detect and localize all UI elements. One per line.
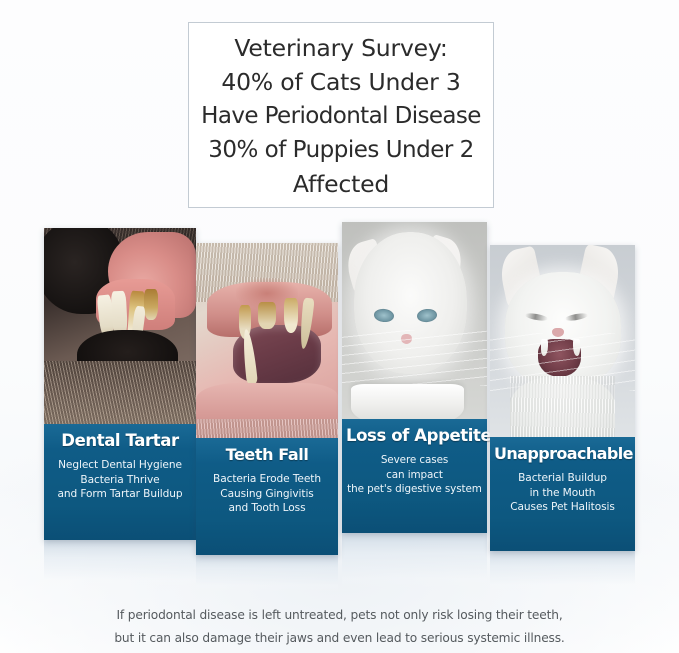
card-desc-line: Causing Gingivitis	[200, 487, 334, 502]
card-desc-loss-of-appetite: Severe cases can impact the pet's digest…	[346, 453, 483, 497]
card-deck: Dental Tartar Neglect Dental Hygiene Bac…	[0, 0, 679, 653]
card-desc-line: and Tooth Loss	[200, 501, 334, 516]
card-banner-loss-of-appetite: Loss of Appetite Severe cases can impact…	[342, 419, 487, 533]
card-banner-dental-tartar: Dental Tartar Neglect Dental Hygiene Bac…	[44, 424, 196, 540]
card-loss-of-appetite[interactable]: Loss of Appetite Severe cases can impact…	[342, 222, 487, 533]
footer-note: If periodontal disease is left untreated…	[0, 604, 679, 650]
card-photo-teeth-fall	[196, 243, 338, 438]
card-desc-line: Bacteria Erode Teeth	[200, 472, 334, 487]
card-desc-teeth-fall: Bacteria Erode Teeth Causing Gingivitis …	[200, 472, 334, 516]
footer-line-2: but it can also damage their jaws and ev…	[0, 627, 679, 650]
card-dental-tartar[interactable]: Dental Tartar Neglect Dental Hygiene Bac…	[44, 228, 196, 540]
card-reflection-2	[196, 555, 338, 593]
card-desc-line: Neglect Dental Hygiene	[48, 458, 192, 473]
card-desc-line: can impact	[346, 468, 483, 483]
card-desc-line: and Form Tartar Buildup	[48, 487, 192, 502]
card-desc-line: in the Mouth	[494, 486, 631, 501]
infographic-page: Veterinary Survey: 40% of Cats Under 3 H…	[0, 0, 679, 653]
card-desc-line: Causes Pet Halitosis	[494, 500, 631, 515]
card-photo-dental-tartar	[44, 228, 196, 424]
card-desc-dental-tartar: Neglect Dental Hygiene Bacteria Thrive a…	[48, 458, 192, 502]
card-title-teeth-fall: Teeth Fall	[200, 445, 334, 465]
card-title-loss-of-appetite: Loss of Appetite	[346, 426, 483, 446]
card-desc-line: the pet's digestive system	[346, 482, 483, 497]
card-banner-teeth-fall: Teeth Fall Bacteria Erode Teeth Causing …	[196, 438, 338, 555]
card-desc-unapproachable: Bacterial Buildup in the Mouth Causes Pe…	[494, 471, 631, 515]
card-reflection-4	[490, 551, 635, 593]
footer-line-1: If periodontal disease is left untreated…	[0, 604, 679, 627]
card-desc-line: Severe cases	[346, 453, 483, 468]
card-desc-line: Bacterial Buildup	[494, 471, 631, 486]
card-title-dental-tartar: Dental Tartar	[48, 431, 192, 451]
card-teeth-fall[interactable]: Teeth Fall Bacteria Erode Teeth Causing …	[196, 243, 338, 555]
card-banner-unapproachable: Unapproachable Bacterial Buildup in the …	[490, 437, 635, 551]
card-photo-unapproachable	[490, 245, 635, 437]
card-title-unapproachable: Unapproachable	[494, 444, 631, 464]
card-unapproachable[interactable]: Unapproachable Bacterial Buildup in the …	[490, 245, 635, 551]
card-desc-line: Bacteria Thrive	[48, 473, 192, 488]
card-photo-loss-of-appetite	[342, 222, 487, 419]
card-reflection-3	[342, 533, 487, 590]
card-reflection-1	[44, 540, 196, 590]
